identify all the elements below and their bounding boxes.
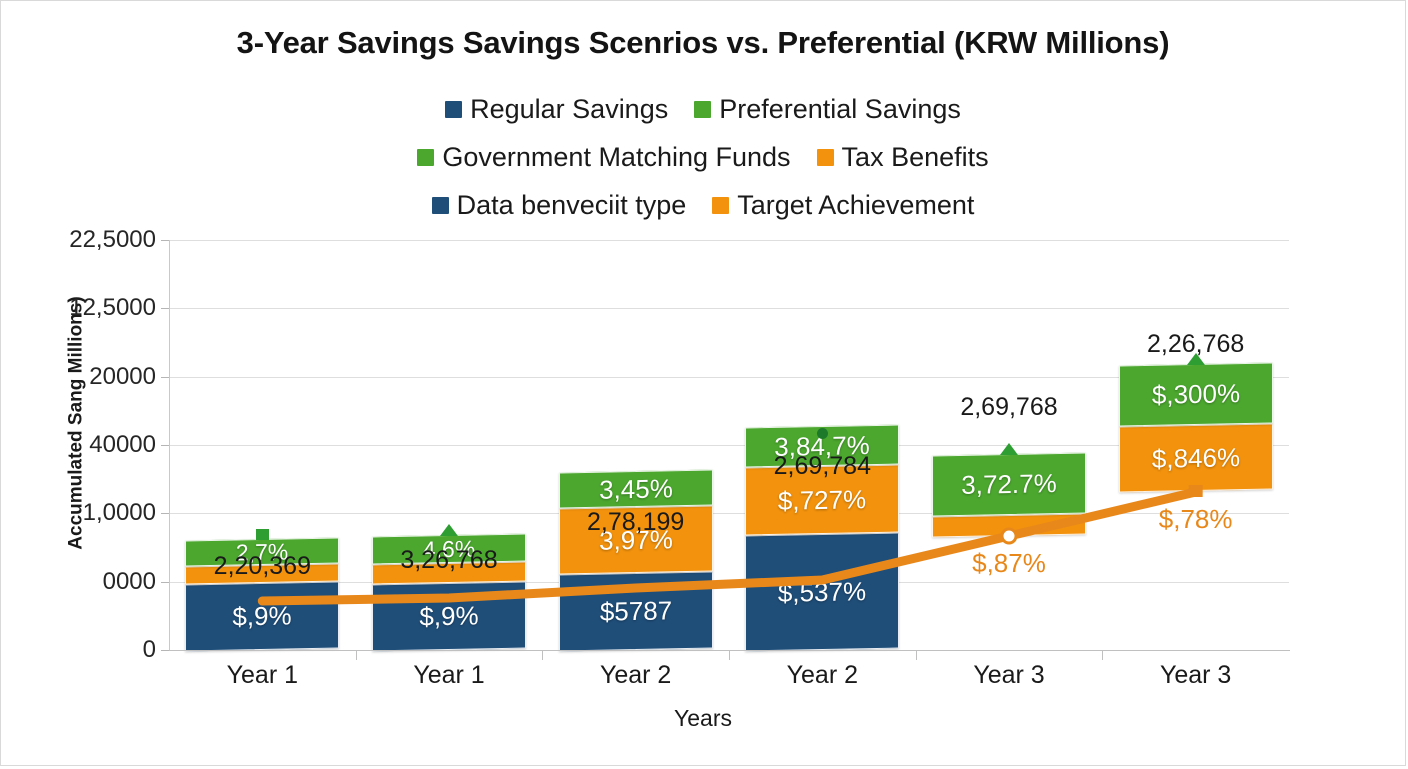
- y-axis-tick-mark: [161, 308, 169, 309]
- bar-segment-green[interactable]: $,300%: [1119, 363, 1273, 427]
- y-axis-tick-label: 22,5000: [69, 226, 156, 254]
- y-axis-tick-label: 1,0000: [83, 499, 156, 527]
- legend-item-tax-benefits[interactable]: Tax Benefits: [817, 142, 989, 173]
- x-axis-category-label: Year 1: [162, 661, 362, 690]
- bar-total-label: 2,26,768: [1076, 330, 1316, 359]
- bar-stack[interactable]: $,9%2,7%: [185, 239, 339, 652]
- legend-label: Regular Savings: [470, 94, 668, 125]
- line-point-label: $,87%: [909, 548, 1109, 579]
- line-point-label: $,78%: [1096, 504, 1296, 535]
- legend-swatch-icon: [712, 197, 729, 214]
- legend-swatch-icon: [445, 101, 462, 118]
- x-axis-tick-mark: [1102, 651, 1103, 660]
- plot-area: $,9%2,7%2,20,369$,9%4,6%3,26,768$57873,9…: [169, 240, 1289, 650]
- bar-segment-value-label: $,846%: [1152, 442, 1240, 475]
- legend-label: Target Achievement: [737, 190, 974, 221]
- bar-segment-value-label: $,9%: [233, 600, 292, 632]
- y-axis-tick-label: 12,5000: [69, 294, 156, 322]
- bar-segment-orange[interactable]: [932, 514, 1086, 538]
- bar-segment-green[interactable]: 3,72.7%: [932, 453, 1086, 517]
- legend-item-target-achievement[interactable]: Target Achievement: [712, 190, 974, 221]
- legend-label: Government Matching Funds: [442, 142, 790, 173]
- legend-label: Preferential Savings: [719, 94, 961, 125]
- bar-segment-blue[interactable]: $,537%: [745, 533, 899, 652]
- y-axis-tick-mark: [161, 650, 169, 651]
- bar-stack[interactable]: $,9%4,6%: [372, 239, 526, 652]
- bar-segment-orange[interactable]: $,846%: [1119, 424, 1273, 493]
- bar-segment-value-label: $,9%: [419, 600, 478, 632]
- bar-segment-value-label: $,537%: [778, 576, 866, 609]
- bar-total-label: 2,69,784: [702, 452, 942, 481]
- x-axis-category-label: Year 3: [909, 661, 1109, 690]
- legend-swatch-icon: [694, 101, 711, 118]
- legend-item-regular-savings[interactable]: Regular Savings: [445, 94, 668, 125]
- y-axis-tick-mark: [161, 445, 169, 446]
- legend-swatch-icon: [417, 149, 434, 166]
- x-axis-category-label: Year 2: [722, 661, 922, 690]
- legend-row-2: Government Matching Funds Tax Benefits: [1, 133, 1405, 181]
- x-axis-tick-mark: [729, 651, 730, 660]
- legend-item-preferential-savings[interactable]: Preferential Savings: [694, 94, 961, 125]
- x-axis-tick-mark: [356, 651, 357, 660]
- legend-label: Data benveciit type: [457, 190, 687, 221]
- bar-stack[interactable]: $,537%$,727%3,84,7%: [745, 239, 899, 652]
- x-axis-category-label: Year 2: [536, 661, 736, 690]
- bar-segment-value-label: $5787: [600, 595, 672, 627]
- y-axis-tick-mark: [161, 240, 169, 241]
- bar-stack[interactable]: $,846%$,300%: [1119, 239, 1273, 652]
- y-axis-tick-mark: [161, 513, 169, 514]
- legend-row-1: Regular Savings Preferential Savings: [1, 85, 1405, 133]
- green-square-marker-icon: [256, 529, 269, 540]
- legend-swatch-icon: [817, 149, 834, 166]
- legend-item-government-matching-funds[interactable]: Government Matching Funds: [417, 142, 790, 173]
- x-axis-category-label: Year 1: [349, 661, 549, 690]
- x-axis-title: Years: [1, 705, 1405, 732]
- chart-legend: Regular Savings Preferential Savings Gov…: [1, 85, 1405, 229]
- bar-segment-blue[interactable]: $5787: [559, 572, 713, 652]
- legend-swatch-icon: [432, 197, 449, 214]
- chart-container: 3-Year Savings Savings Scenrios vs. Pref…: [0, 0, 1406, 766]
- bar-total-label: 3,26,768: [329, 546, 569, 575]
- x-axis-category-label: Year 3: [1096, 661, 1296, 690]
- bar-stack[interactable]: $57873,97%3,45%: [559, 239, 713, 652]
- y-axis-tick-mark: [161, 582, 169, 583]
- legend-item-data-benveciit-type[interactable]: Data benveciit type: [432, 190, 687, 221]
- bar-total-label: 2,69,768: [889, 393, 1129, 422]
- y-axis-line: [169, 240, 170, 651]
- bar-segment-value-label: 3,45%: [599, 473, 673, 505]
- y-axis-tick-label: 0: [143, 636, 156, 664]
- x-axis-tick-mark: [542, 651, 543, 660]
- bar-segment-value-label: $,300%: [1152, 378, 1240, 411]
- y-axis-tick-labels: 22,500012,500020000400001,000000000: [1, 1, 156, 769]
- green-triangle-marker-icon: [440, 524, 458, 536]
- legend-row-3: Data benveciit type Target Achievement: [1, 181, 1405, 229]
- y-axis-tick-mark: [161, 377, 169, 378]
- bar-segment-blue[interactable]: $,9%: [185, 582, 339, 652]
- bar-segment-blue[interactable]: $,9%: [372, 582, 526, 652]
- bar-segment-value-label: $,727%: [778, 484, 866, 517]
- x-axis-tick-mark: [916, 651, 917, 660]
- bar-total-label: 2,78,199: [516, 508, 756, 537]
- green-triangle-marker-icon: [1000, 443, 1018, 455]
- bar-segment-green[interactable]: 3,45%: [559, 470, 713, 509]
- y-axis-tick-label: 20000: [89, 363, 156, 391]
- y-axis-tick-label: 40000: [89, 431, 156, 459]
- chart-title: 3-Year Savings Savings Scenrios vs. Pref…: [1, 25, 1405, 61]
- bar-segment-value-label: 3,72.7%: [961, 468, 1056, 501]
- legend-label: Tax Benefits: [842, 142, 989, 173]
